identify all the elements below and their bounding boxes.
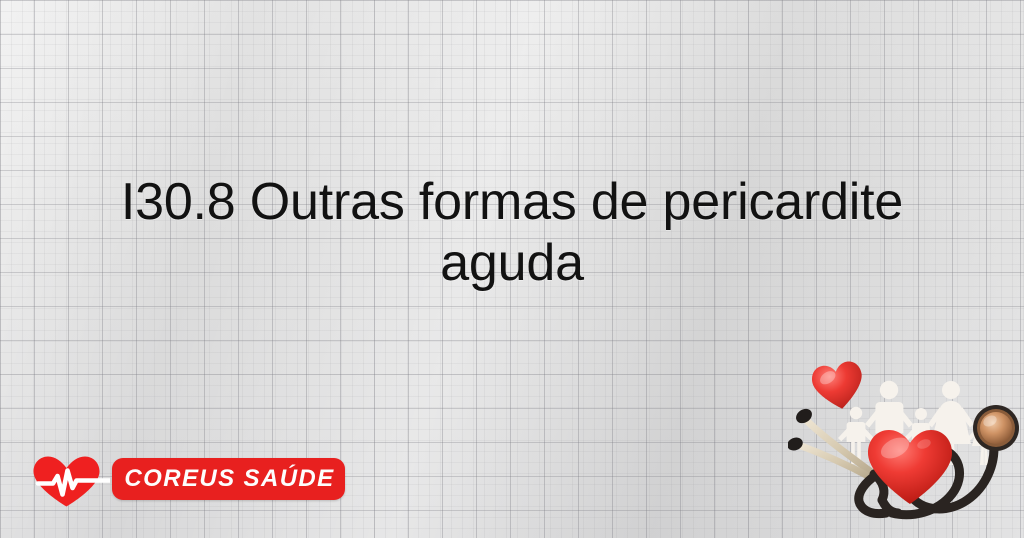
title-line-2: aguda xyxy=(60,233,964,294)
page-title: I30.8 Outras formas de pericardite aguda xyxy=(60,172,964,294)
slide-canvas: I30.8 Outras formas de pericardite aguda… xyxy=(0,0,1024,538)
artwork-svg xyxy=(788,352,1024,538)
brand-badge: COREUS SAÚDE xyxy=(112,458,345,500)
medical-artwork xyxy=(788,352,1024,538)
brand-name-label: COREUS SAÚDE xyxy=(122,465,334,493)
title-line-1: I30.8 Outras formas de pericardite xyxy=(60,172,964,233)
heart-ecg-icon xyxy=(30,454,110,508)
small-heart-icon xyxy=(810,359,867,412)
stethoscope-chestpiece xyxy=(973,405,1019,451)
brand-logo: COREUS SAÚDE xyxy=(30,450,350,508)
stethoscope-eartip-right xyxy=(788,435,805,452)
